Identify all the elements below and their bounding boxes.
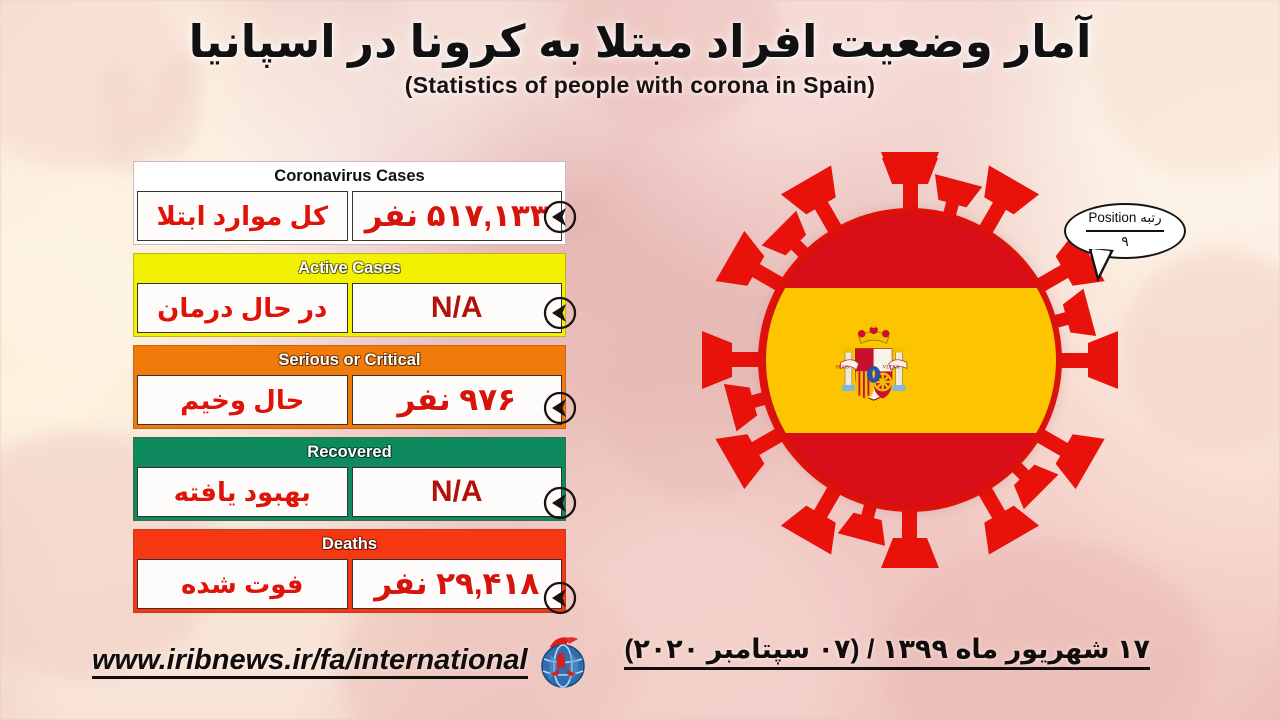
stat-head-active-cases: Active Cases [137, 257, 562, 280]
spain-coat-of-arms-icon: PLUS VLTRA [836, 319, 911, 412]
left-arrow-circle-icon-deaths[interactable] [542, 580, 578, 616]
stat-label-cell-coronavirus-cases: کل موارد ابتلا [137, 191, 348, 241]
website-url[interactable]: www.iribnews.ir/fa/international [92, 645, 528, 679]
flag-band-yellow [766, 288, 1056, 433]
stat-head-coronavirus-cases: Coronavirus Cases [137, 165, 562, 188]
stat-value-cell-deaths: ۲۹,۴۱۸ نفر [352, 559, 563, 609]
bubble-divider [1086, 230, 1164, 232]
left-arrow-circle-icon-recovered[interactable] [542, 485, 578, 521]
stat-head-recovered: Recovered [137, 441, 562, 464]
stat-value-recovered: N/A [431, 475, 483, 509]
flag-band-red-top [766, 215, 1056, 288]
stat-row-active-cases[interactable]: Active Cases N/A در حال درمان [133, 253, 566, 337]
stat-label-coronavirus-cases: کل موارد ابتلا [157, 201, 328, 232]
stat-head-deaths: Deaths [137, 533, 562, 556]
stat-row-serious-or-critical[interactable]: Serious or Critical ۹۷۶ نفر حال وخیم [133, 345, 566, 429]
stat-value-coronavirus-cases: ۵۱۷,۱۳۳ نفر [365, 198, 549, 234]
stat-label-deaths: فوت شده [181, 569, 304, 600]
stat-value-cell-serious-or-critical: ۹۷۶ نفر [352, 375, 563, 425]
stat-row-recovered[interactable]: Recovered N/A بهبود یافته [133, 437, 566, 521]
position-badge: رتبه Position ۹ [1064, 203, 1186, 259]
flag-band-red-bottom [766, 433, 1056, 506]
stat-row-coronavirus-cases[interactable]: Coronavirus Cases ۵۱۷,۱۳۳ نفر کل موارد ا… [133, 161, 566, 245]
stat-value-cell-coronavirus-cases: ۵۱۷,۱۳۳ نفر [352, 191, 563, 241]
title-english: (Statistics of people with corona in Spa… [0, 72, 1280, 99]
stat-label-serious-or-critical: حال وخیم [180, 385, 304, 416]
statistics-table: Coronavirus Cases ۵۱۷,۱۳۳ نفر کل موارد ا… [133, 161, 566, 621]
spain-flag-virus-graphic: PLUS VLTRA [700, 150, 1120, 570]
left-arrow-circle-icon-serious-or-critical[interactable] [542, 390, 578, 426]
stat-value-cell-active-cases: N/A [352, 283, 563, 333]
irib-globe-logo-icon [536, 633, 594, 691]
left-arrow-circle-icon-active-cases[interactable] [542, 295, 578, 331]
stat-label-cell-active-cases: در حال درمان [137, 283, 348, 333]
svg-text:VLTRA: VLTRA [882, 365, 899, 371]
stat-label-recovered: بهبود یافته [174, 477, 311, 508]
stat-label-cell-recovered: بهبود یافته [137, 467, 348, 517]
stat-row-deaths[interactable]: Deaths ۲۹,۴۱۸ نفر فوت شده [133, 529, 566, 613]
stat-value-cell-recovered: N/A [352, 467, 563, 517]
bubble-tail-icon [1088, 249, 1122, 283]
title-farsi: آمار وضعیت افراد مبتلا به کرونا در اسپان… [0, 16, 1280, 68]
report-date: ۱۷ شهریور ماه ۱۳۹۹ / (۰۷ سپتامبر ۲۰۲۰) [624, 634, 1150, 670]
left-arrow-circle-icon-coronavirus-cases[interactable] [542, 199, 578, 235]
stat-head-serious-or-critical: Serious or Critical [137, 349, 562, 372]
stat-value-serious-or-critical: ۹۷۶ نفر [397, 382, 516, 418]
position-label: رتبه Position [1064, 210, 1186, 226]
stat-value-deaths: ۲۹,۴۱۸ نفر [374, 566, 539, 602]
svg-text:PLUS: PLUS [836, 365, 849, 371]
position-value: ۹ [1064, 233, 1186, 250]
stat-value-active-cases: N/A [431, 291, 483, 325]
footer-website[interactable]: www.iribnews.ir/fa/international [92, 633, 594, 691]
page-title: آمار وضعیت افراد مبتلا به کرونا در اسپان… [0, 16, 1280, 99]
stat-label-active-cases: در حال درمان [157, 293, 327, 324]
spain-flag-circle: PLUS VLTRA [766, 215, 1056, 505]
stat-label-cell-deaths: فوت شده [137, 559, 348, 609]
infographic-canvas: آمار وضعیت افراد مبتلا به کرونا در اسپان… [0, 0, 1280, 720]
stat-label-cell-serious-or-critical: حال وخیم [137, 375, 348, 425]
